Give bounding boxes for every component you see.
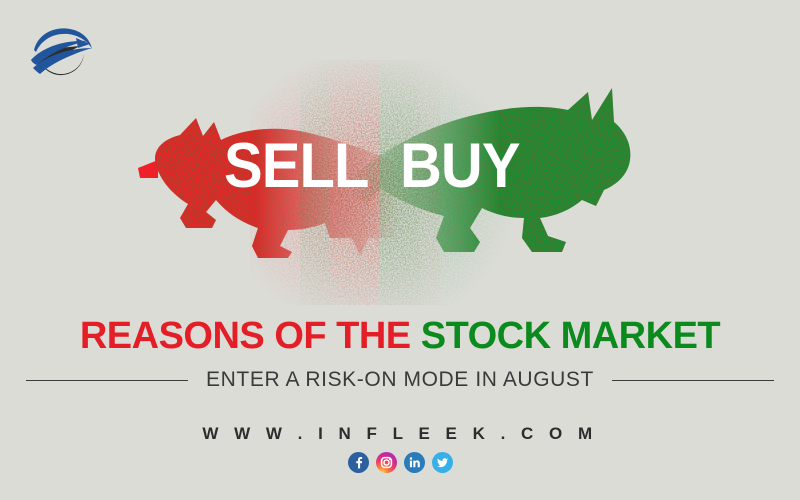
- social-links: [0, 452, 800, 473]
- website-url[interactable]: W W W . I N F L E E K . C O M: [0, 424, 800, 444]
- instagram-icon[interactable]: [376, 452, 397, 473]
- subtitle-row: ENTER A RISK-ON MODE IN AUGUST: [0, 364, 800, 396]
- headline-red-part: REASONS OF THE: [80, 315, 421, 357]
- particle-cloud: [250, 60, 520, 305]
- divider-right: [612, 380, 774, 381]
- twitter-icon[interactable]: [432, 452, 453, 473]
- subtitle: ENTER A RISK-ON MODE IN AUGUST: [206, 368, 594, 392]
- bear-bull-artwork: [0, 60, 800, 305]
- page-title: REASONS OF THE STOCK MARKET: [0, 314, 800, 358]
- linkedin-icon[interactable]: [404, 452, 425, 473]
- divider-left: [26, 380, 188, 381]
- poster-canvas: SELL BUY REASONS OF THE STOCK MARKET ENT…: [0, 0, 800, 500]
- headline-green-part: STOCK MARKET: [421, 315, 720, 357]
- facebook-icon[interactable]: [348, 452, 369, 473]
